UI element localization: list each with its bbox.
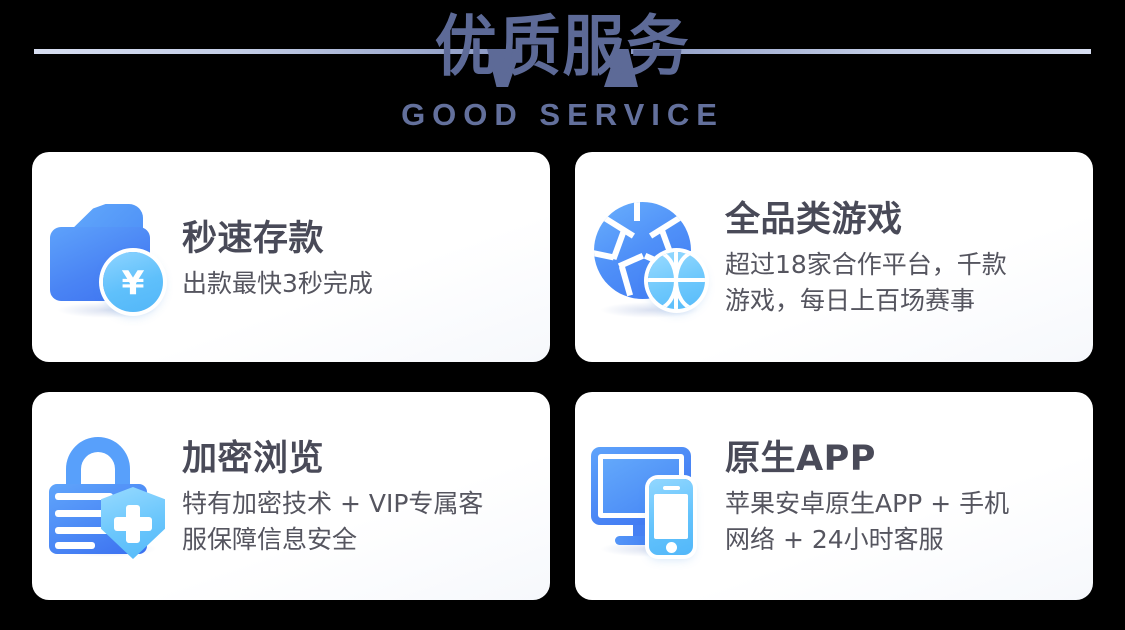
- yen-symbol: ¥: [122, 266, 145, 299]
- card-icon-container: [575, 152, 725, 362]
- page-subtitle: GOOD SERVICE: [0, 98, 1125, 132]
- feature-card-encryption[interactable]: 加密浏览 特有加密技术 + VIP专属客 服保障信息安全: [32, 392, 550, 600]
- lock-shield-icon: [48, 437, 166, 555]
- card-icon-container: ¥: [32, 152, 182, 362]
- card-text-container: 秒速存款 出款最快3秒完成: [182, 152, 550, 362]
- promo-banner: 优质服务 GOOD SERVICE ¥ 秒速存款: [0, 0, 1125, 630]
- feature-card-native-app[interactable]: 原生APP 苹果安卓原生APP + 手机 网络 + 24小时客服: [575, 392, 1093, 600]
- page-title: 优质服务: [34, 6, 1092, 88]
- monitor-phone-icon: [591, 437, 709, 555]
- card-text-container: 原生APP 苹果安卓原生APP + 手机 网络 + 24小时客服: [725, 392, 1093, 600]
- card-subtitle-line: 超过18家合作平台，千款: [725, 247, 1075, 283]
- card-subtitle-line: 特有加密技术 + VIP专属客: [182, 486, 532, 522]
- card-text-container: 加密浏览 特有加密技术 + VIP专属客 服保障信息安全: [182, 392, 550, 600]
- card-title: 秒速存款: [182, 217, 532, 261]
- feature-card-games[interactable]: 全品类游戏 超过18家合作平台，千款 游戏，每日上百场赛事: [575, 152, 1093, 362]
- card-subtitle: 出款最快3秒完成: [182, 266, 532, 302]
- card-icon-container: [32, 392, 182, 600]
- card-icon-container: [575, 392, 725, 600]
- feature-card-grid: ¥ 秒速存款 出款最快3秒完成: [32, 152, 1093, 600]
- banner-header: 优质服务 GOOD SERVICE: [0, 0, 1125, 140]
- card-subtitle: 苹果安卓原生APP + 手机 网络 + 24小时客服: [725, 486, 1075, 558]
- card-text-container: 全品类游戏 超过18家合作平台，千款 游戏，每日上百场赛事: [725, 152, 1093, 362]
- cross-icon-bar: [114, 517, 152, 531]
- feature-card-deposit[interactable]: ¥ 秒速存款 出款最快3秒完成: [32, 152, 550, 362]
- soccer-basketball-icon: [591, 198, 709, 316]
- basketball-icon: [648, 252, 705, 309]
- card-title: 加密浏览: [182, 437, 532, 481]
- card-title: 全品类游戏: [725, 198, 1075, 242]
- card-title: 原生APP: [725, 437, 1075, 481]
- card-subtitle: 超过18家合作平台，千款 游戏，每日上百场赛事: [725, 247, 1075, 319]
- card-subtitle-line: 游戏，每日上百场赛事: [725, 283, 1075, 319]
- card-subtitle-line: 服保障信息安全: [182, 522, 532, 558]
- card-subtitle-line: 出款最快3秒完成: [182, 266, 532, 302]
- wallet-yen-icon: ¥: [48, 198, 166, 316]
- card-subtitle: 特有加密技术 + VIP专属客 服保障信息安全: [182, 486, 532, 558]
- card-subtitle-line: 网络 + 24小时客服: [725, 522, 1075, 558]
- yen-coin-icon: ¥: [103, 252, 163, 312]
- phone-icon: [649, 479, 693, 555]
- card-subtitle-line: 苹果安卓原生APP + 手机: [725, 486, 1075, 522]
